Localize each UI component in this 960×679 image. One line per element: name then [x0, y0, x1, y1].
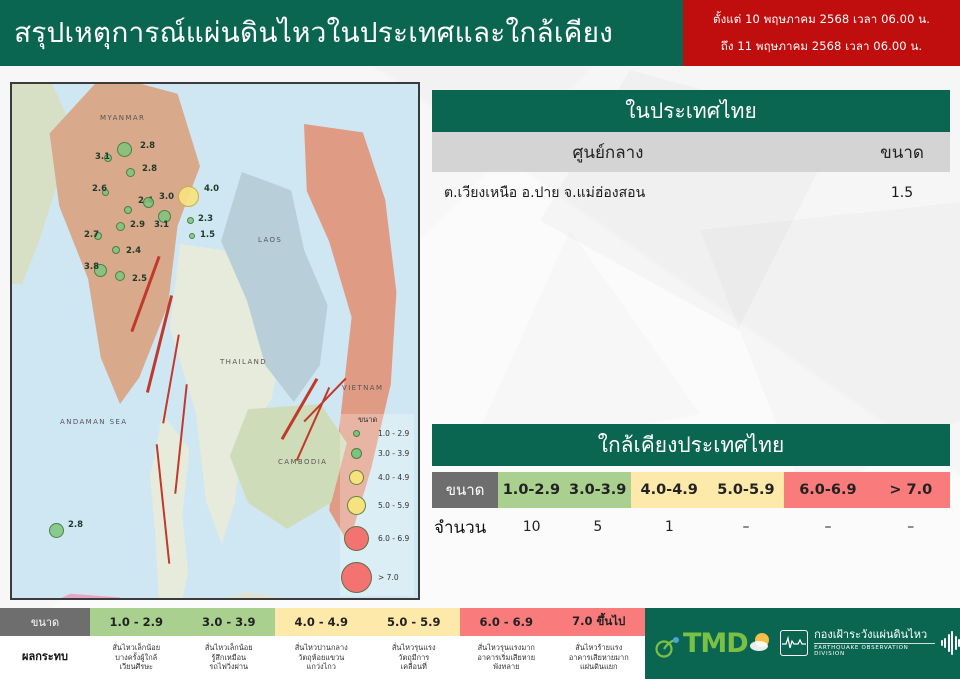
magnitude-bin-label: 4.0-4.9: [631, 472, 708, 508]
nearby-count-label: จำนวน: [432, 508, 499, 546]
map-legend-label: 1.0 - 2.9: [378, 429, 409, 438]
map-legend-dot: [349, 470, 364, 485]
cell-magnitude: 1.5: [854, 185, 950, 201]
sun-cloud-icon: [750, 631, 772, 657]
magnitude-bin-count: –: [708, 508, 785, 546]
magnitude-bin-label: 3.0-3.9: [565, 472, 631, 508]
epicenter-magnitude-label: 3.8: [84, 262, 99, 272]
seismograph-icon: [780, 630, 808, 656]
nearby-magnitude-row: ขนาด 1.0-2.93.0-3.94.0-4.95.0-5.96.0-6.9…: [432, 472, 950, 508]
domestic-earthquake-panel: ในประเทศไทย ศูนย์กลาง ขนาด ต.เวียงเหนือ …: [432, 90, 950, 214]
map-legend-row: 5.0 - 5.9: [340, 494, 409, 517]
magnitude-bin-count: 1: [631, 508, 708, 546]
legend-effect-description: สั่นไหวปานกลาง วัตถุห้อยแขวน แกว่งไกว: [275, 636, 368, 679]
date-range-banner: ตั้งแต่ 10 พฤษภาคม 2568 เวลา 06.00 น. ถึ…: [683, 0, 960, 66]
map-legend-row: 1.0 - 2.9: [340, 428, 409, 439]
legend-effect-description: สั่นไหวเล็กน้อย บางครั้งผู้ใกล้ เวียนศีร…: [90, 636, 183, 679]
legend-effect-row: ผลกระทบ สั่นไหวเล็กน้อย บางครั้งผู้ใกล้ …: [0, 636, 645, 679]
magnitude-bin-label: > 7.0: [872, 472, 950, 508]
map-legend-label: > 7.0: [378, 573, 399, 582]
map-legend-row: 4.0 - 4.9: [340, 468, 409, 487]
magnitude-bin-label: 1.0-2.9: [498, 472, 564, 508]
map-legend-dot: [353, 430, 360, 437]
map-legend-label: 4.0 - 4.9: [378, 473, 409, 482]
column-header-center: ศูนย์กลาง: [432, 139, 854, 166]
fault-line: [162, 335, 180, 424]
division-name-th: กองเฝ้าระวังแผ่นดินไหว: [814, 629, 934, 642]
epicenter-magnitude-label: 2.8: [142, 164, 157, 174]
map-landmass-malaysia: [188, 584, 318, 600]
map-legend-dot: [347, 496, 366, 515]
division-name-en: EARTHQUAKE OBSERVATION DIVISION: [814, 643, 934, 658]
magnitude-bin-count: 10: [499, 508, 565, 546]
epicenter-marker[interactable]: [189, 233, 195, 239]
tmd-logo: TMD: [655, 628, 772, 659]
epicenter-marker[interactable]: [115, 271, 125, 281]
epicenter-magnitude-label: 3.1: [95, 152, 110, 162]
map-landmass-thailand-south: [132, 414, 202, 600]
nearby-magnitude-label: ขนาด: [432, 472, 498, 508]
map-legend-dot: [351, 448, 362, 459]
magnitude-bin-label: 6.0-6.9: [784, 472, 871, 508]
nearby-section-title: ใกล้เคียงประเทศไทย: [598, 429, 785, 462]
earthquake-map[interactable]: MYANMARLAOSTHAILANDVIETNAMCAMBODIAANDAMA…: [10, 82, 420, 600]
magnitude-bin-count: –: [872, 508, 950, 546]
epicenter-marker[interactable]: [187, 217, 194, 224]
branding-bar: TMD กองเฝ้าระวังแผ่นดินไหว EARTHQUAKE OB…: [645, 608, 960, 679]
magnitude-bin-count: 5: [565, 508, 631, 546]
epicenter-magnitude-label: 2.8: [140, 141, 155, 151]
legend-magnitude-range: 4.0 - 4.9: [275, 608, 368, 636]
legend-effect-description: สั่นไหวเล็กน้อย รู้สึกเหมือน รถไฟวิ่งผ่า…: [183, 636, 276, 679]
domestic-table-body: ต.เวียงเหนือ อ.ปาย จ.แม่ฮ่องสอน1.5: [432, 172, 950, 214]
nearby-count-row: จำนวน 1051–––: [432, 508, 950, 546]
epicenter-magnitude-label: 2.7: [84, 230, 99, 240]
map-legend-title: ขนาด: [358, 414, 377, 426]
map-label-laos: LAOS: [258, 236, 282, 244]
epicenter-magnitude-label: 2.9: [130, 220, 145, 230]
epicenter-marker[interactable]: [116, 222, 125, 231]
legend-effect-description: สั่นไหวรุนแรง วัตถุมีการ เคลื่อนที่: [368, 636, 461, 679]
epicenter-magnitude-label: 2.6: [92, 184, 107, 194]
magnitude-effect-legend: ขนาด 1.0 - 2.93.0 - 3.94.0 - 4.95.0 - 5.…: [0, 608, 645, 679]
epicenter-marker[interactable]: [124, 206, 132, 214]
map-legend-row: > 7.0: [340, 560, 399, 595]
epicenter-magnitude-label: 4.0: [204, 184, 219, 194]
waveform-glyph-icon: [782, 635, 806, 651]
map-magnitude-legend: ขนาด 1.0 - 2.93.0 - 3.94.0 - 4.95.0 - 5.…: [340, 414, 414, 596]
legend-effect-description: สั่นไหวร้ายแรง อาคารเสียหายมาก แผ่นดินแย…: [553, 636, 646, 679]
bottom-bar: ขนาด 1.0 - 2.93.0 - 3.94.0 - 4.95.0 - 5.…: [0, 608, 960, 679]
epicenter-marker[interactable]: [143, 197, 154, 208]
epicenter-marker[interactable]: [117, 142, 132, 157]
epicenter-marker[interactable]: [49, 523, 64, 538]
date-to: ถึง 11 พฤษภาคม 2568 เวลา 06.00 น.: [721, 38, 922, 56]
legend-magnitude-range: 7.0 ขึ้นไป: [553, 608, 646, 636]
date-from: ตั้งแต่ 10 พฤษภาคม 2568 เวลา 06.00 น.: [713, 11, 930, 29]
page-title: สรุปเหตุการณ์แผ่นดินไหวในประเทศและใกล้เค…: [0, 18, 613, 49]
division-text: กองเฝ้าระวังแผ่นดินไหว EARTHQUAKE OBSERV…: [814, 629, 934, 657]
epicenter-magnitude-label: 2.5: [132, 274, 147, 284]
wave-bars-icon: [941, 630, 960, 656]
map-legend-row: 3.0 - 3.9: [340, 446, 409, 461]
nearby-earthquake-panel: ใกล้เคียงประเทศไทย ขนาด 1.0-2.93.0-3.94.…: [432, 424, 950, 546]
magnitude-bin-label: 5.0-5.9: [708, 472, 785, 508]
map-legend-row: 6.0 - 6.9: [340, 524, 409, 553]
map-legend-label: 6.0 - 6.9: [378, 534, 409, 543]
map-legend-dot: [344, 526, 369, 551]
map-legend-label: 3.0 - 3.9: [378, 449, 409, 458]
cell-center: ต.เวียงเหนือ อ.ปาย จ.แม่ฮ่องสอน: [432, 182, 854, 204]
map-label-vietnam: VIETNAM: [342, 384, 383, 392]
epicenter-marker[interactable]: [112, 246, 120, 254]
nearby-section-header: ใกล้เคียงประเทศไทย: [432, 424, 950, 466]
tmd-wordmark: TMD: [683, 628, 748, 659]
magnitude-bin-count: –: [784, 508, 871, 546]
legend-magnitude-range: 3.0 - 3.9: [183, 608, 276, 636]
map-label-myanmar: MYANMAR: [100, 114, 145, 122]
epicenter-magnitude-label: 1.5: [200, 230, 215, 240]
legend-magnitude-range: 1.0 - 2.9: [90, 608, 183, 636]
epicenter-marker[interactable]: [178, 186, 199, 207]
column-header-magnitude: ขนาด: [854, 139, 950, 166]
epicenter-magnitude-label: 2.4: [126, 246, 141, 256]
map-legend-dot: [341, 562, 372, 593]
legend-magnitude-row: ขนาด 1.0 - 2.93.0 - 3.94.0 - 4.95.0 - 5.…: [0, 608, 645, 636]
legend-magnitude-range: 5.0 - 5.9: [368, 608, 461, 636]
legend-header-effect: ผลกระทบ: [0, 636, 90, 679]
legend-magnitude-range: 6.0 - 6.9: [460, 608, 553, 636]
epicenter-magnitude-label: 3.0: [159, 192, 174, 202]
map-label-cambodia: CAMBODIA: [278, 458, 327, 466]
tmd-emblem-icon: [655, 629, 681, 659]
table-row: ต.เวียงเหนือ อ.ปาย จ.แม่ฮ่องสอน1.5: [432, 172, 950, 214]
earthquake-summary-page: สรุปเหตุการณ์แผ่นดินไหวในประเทศและใกล้เค…: [0, 0, 960, 679]
legend-header-magnitude: ขนาด: [0, 608, 90, 636]
epicenter-magnitude-label: 2.3: [198, 214, 213, 224]
page-title-bar: สรุปเหตุการณ์แผ่นดินไหวในประเทศและใกล้เค…: [0, 0, 683, 66]
map-label-andaman-sea: ANDAMAN SEA: [60, 418, 127, 426]
map-label-thailand: THAILAND: [220, 358, 267, 366]
domestic-section-header: ในประเทศไทย: [432, 90, 950, 132]
map-landmass-andaman-islands: [26, 574, 156, 600]
division-badge: กองเฝ้าระวังแผ่นดินไหว EARTHQUAKE OBSERV…: [780, 629, 960, 657]
epicenter-magnitude-label: 2.8: [68, 520, 83, 530]
map-legend-label: 5.0 - 5.9: [378, 501, 409, 510]
legend-effect-description: สั่นไหวรุนแรงมาก อาคารเริ่มเสียหาย พังทล…: [460, 636, 553, 679]
domestic-table-header: ศูนย์กลาง ขนาด: [432, 132, 950, 172]
epicenter-magnitude-label: 3.1: [154, 220, 169, 230]
epicenter-marker[interactable]: [126, 168, 135, 177]
domestic-section-title: ในประเทศไทย: [625, 95, 757, 128]
